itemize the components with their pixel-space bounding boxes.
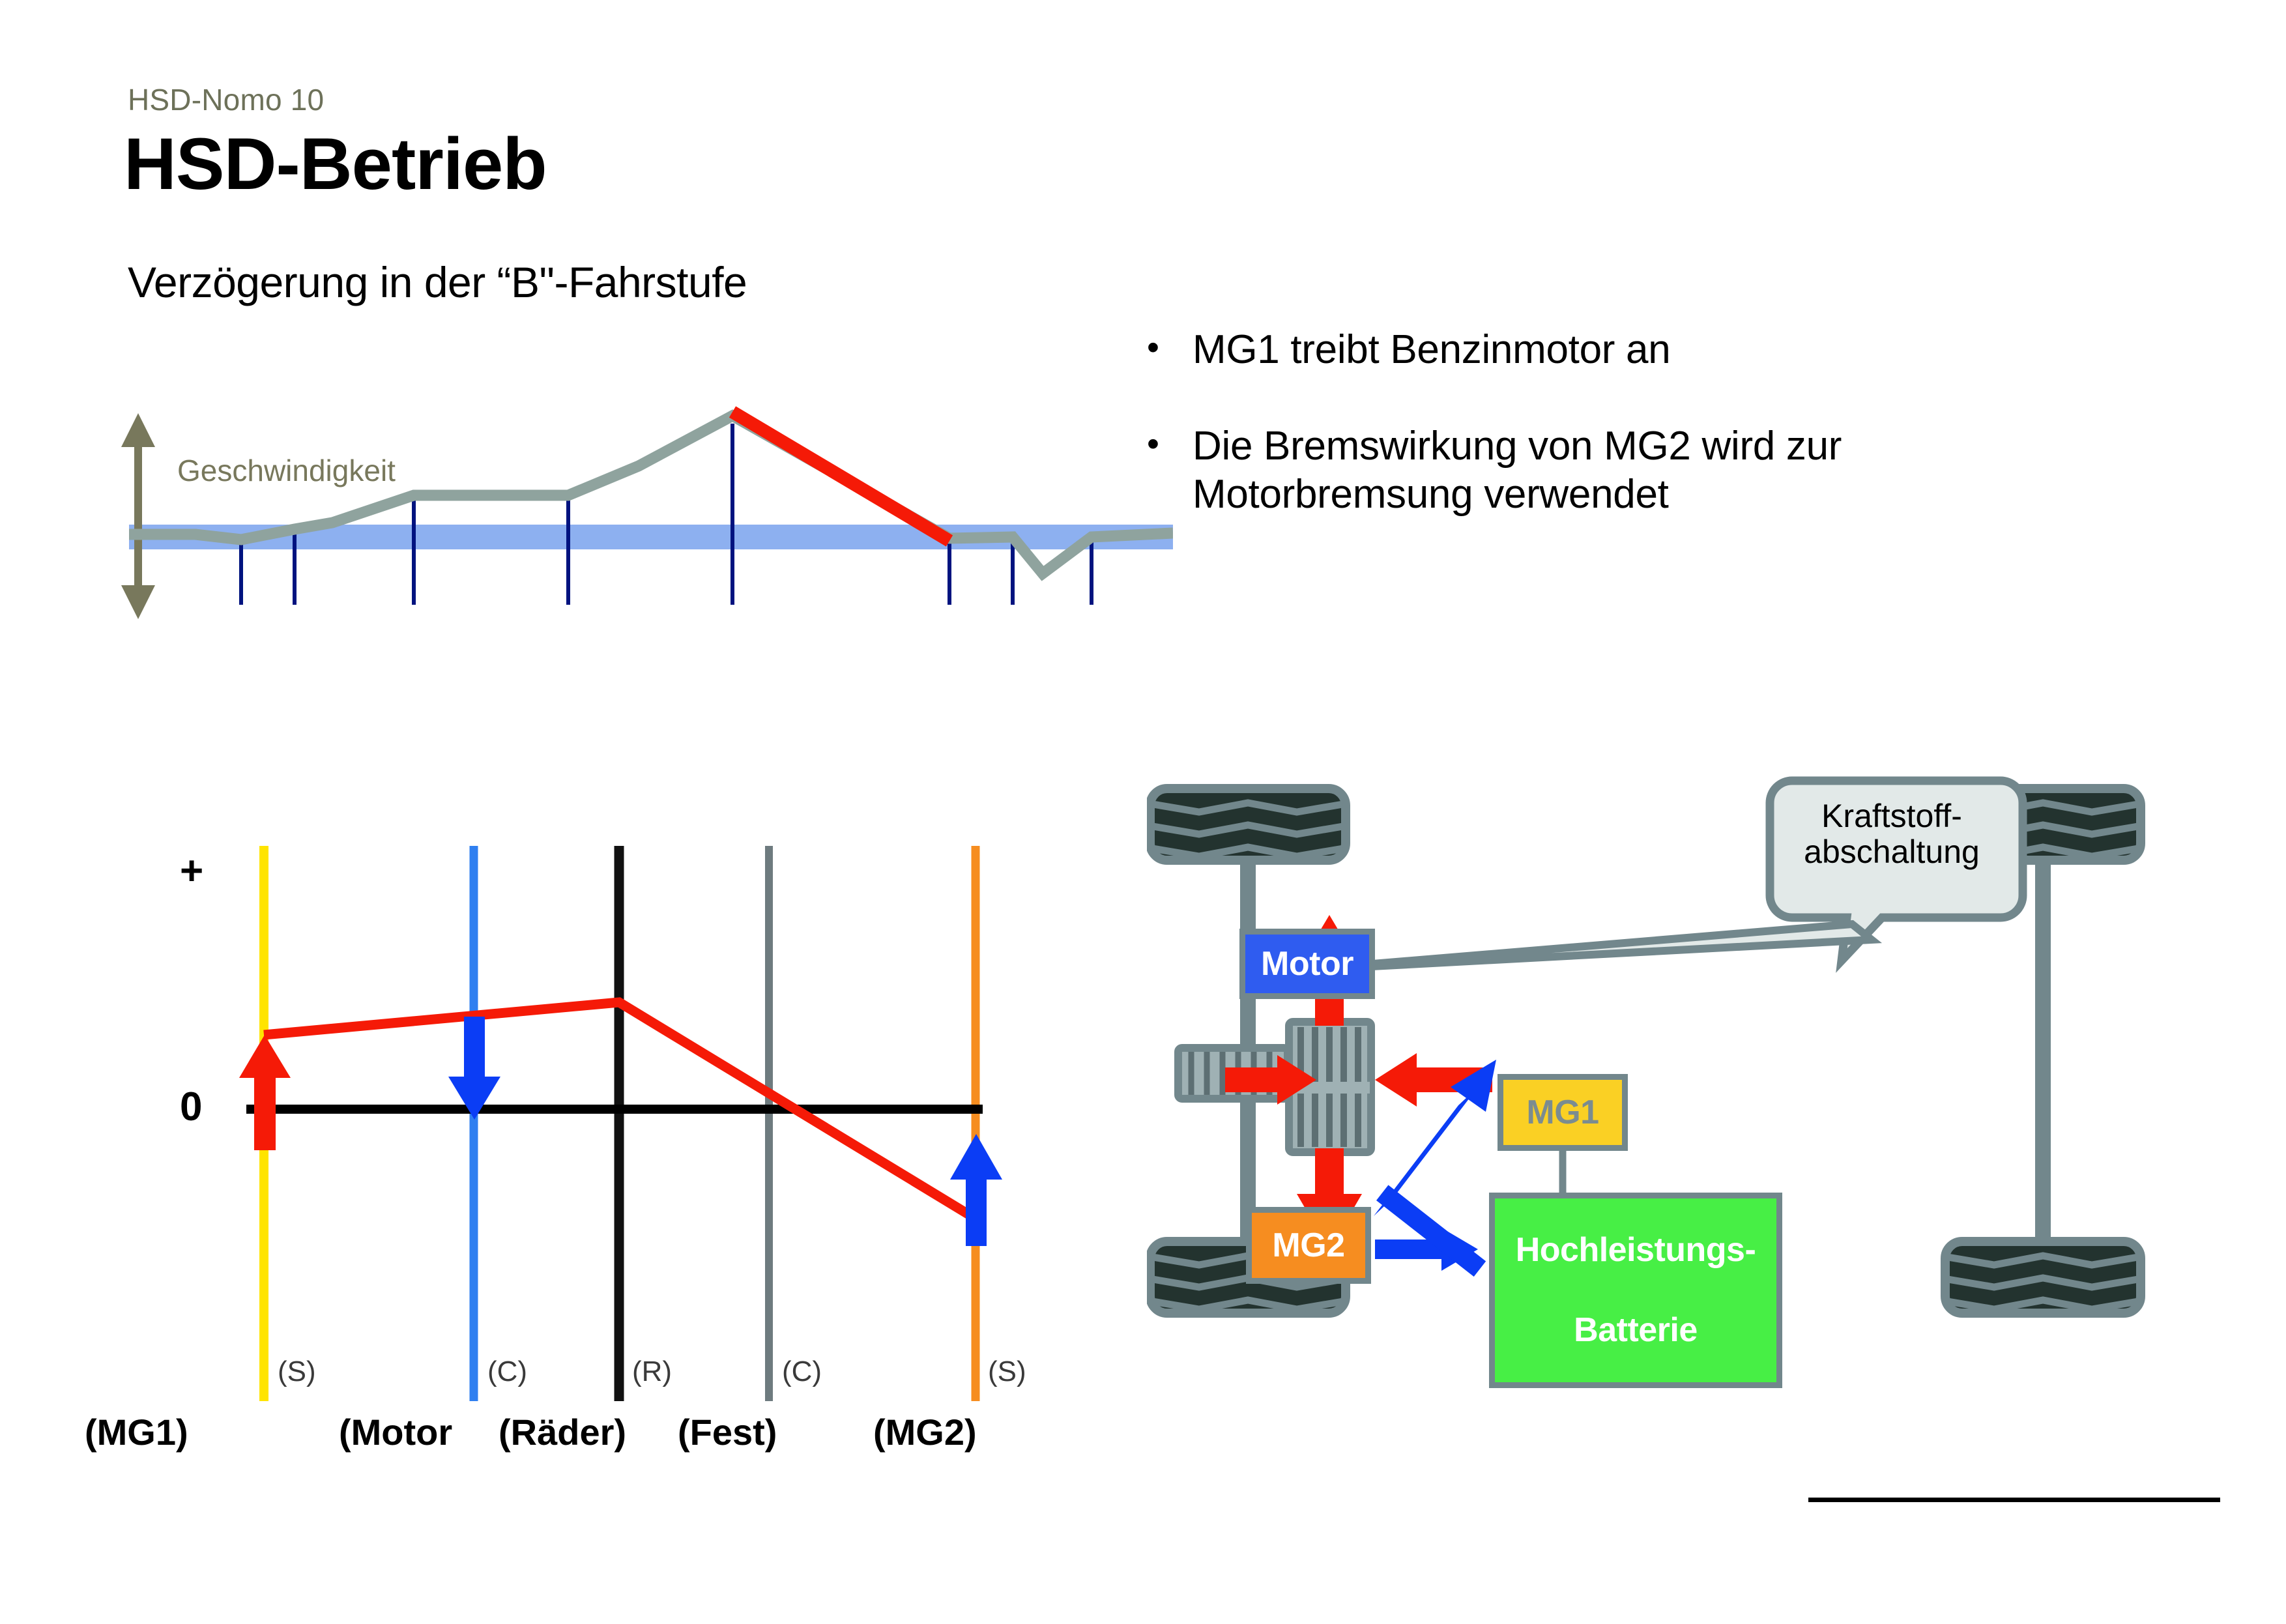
hsd-nomogram: + 0 (S) (C) (R) (C) (S) (MG1) (Motor (Rä… [163, 828, 1010, 1447]
slide-eyebrow: HSD-Nomo 10 [128, 82, 324, 117]
nomo-label-mg2: (MG2) [873, 1411, 977, 1453]
mg1-box-label: MG1 [1526, 1093, 1599, 1132]
motor-box-label: Motor [1261, 944, 1353, 983]
mg1-box[interactable]: MG1 [1497, 1074, 1628, 1151]
nomo-label-raeder: (Räder) [499, 1411, 626, 1453]
tire-rear-right [1945, 1241, 2141, 1313]
speed-chart-svg: Geschwindigkeit [117, 404, 1173, 691]
nomo-label-fest: (Fest) [678, 1411, 777, 1453]
nomo-arrow-mg2-up [950, 1134, 1002, 1246]
page-title: HSD-Betrieb [124, 128, 547, 201]
bullet-marker-icon: • [1147, 326, 1193, 369]
battery-label-line-1: Hochleistungs- [1516, 1230, 1756, 1270]
speed-axis-arrow-icon [121, 413, 155, 619]
nomogram-svg [163, 828, 1010, 1447]
footer-divider [1808, 1498, 2220, 1502]
bullet-list: • MG1 treibt Benzinmotor an • Die Bremsw… [1147, 326, 2124, 567]
speed-axis-label: Geschwindigkeit [177, 454, 396, 487]
callout-text: Kraftstoff- abschaltung [1784, 782, 1999, 886]
list-item: • Die Bremswirkung von MG2 wird zur Moto… [1147, 422, 2124, 519]
nomo-arrow-mg1-up [239, 1035, 291, 1150]
page-subtitle: Verzögerung in der “B"-Fahrstufe [128, 261, 747, 304]
nomo-axis-plus-label: + [180, 851, 203, 892]
nomo-code-mg1: (S) [278, 1356, 316, 1388]
battery-box[interactable]: Hochleistungs- Batterie [1489, 1193, 1782, 1388]
tire-front-left [1150, 789, 1346, 860]
motor-box[interactable]: Motor [1239, 929, 1375, 999]
nomo-label-mg1: (MG1) [85, 1411, 188, 1453]
nomo-code-motor: (C) [487, 1356, 527, 1388]
callout-line-2: abschaltung [1804, 834, 1980, 870]
bullet-text: Die Bremswirkung von MG2 wird zur Motorb… [1193, 422, 2124, 519]
nomo-axis-zero-label: 0 [180, 1087, 202, 1127]
speed-profile-chart: Geschwindigkeit [117, 404, 1173, 691]
list-item: • MG1 treibt Benzinmotor an [1147, 326, 2124, 374]
battery-label-line-2: Batterie [1516, 1311, 1756, 1350]
deceleration-highlight [732, 412, 949, 541]
nomo-arrow-motor-down [448, 1017, 500, 1120]
mg2-box-label: MG2 [1272, 1226, 1344, 1265]
bullet-text: MG1 treibt Benzinmotor an [1193, 326, 1670, 374]
vehicle-powertrain-diagram: Kraftstoff- abschaltung Motor MG1 MG2 Ho… [1147, 776, 2216, 1362]
speed-curve [129, 416, 1173, 573]
nomo-code-raeder: (R) [632, 1356, 672, 1388]
callout-line-1: Kraftstoff- [1821, 798, 1962, 834]
rear-axle-right [2035, 860, 2051, 1268]
mg2-box[interactable]: MG2 [1246, 1207, 1371, 1284]
nomo-code-fest: (C) [782, 1356, 822, 1388]
nomo-label-motor: (Motor [339, 1411, 452, 1453]
nomo-code-mg2: (S) [988, 1356, 1026, 1388]
